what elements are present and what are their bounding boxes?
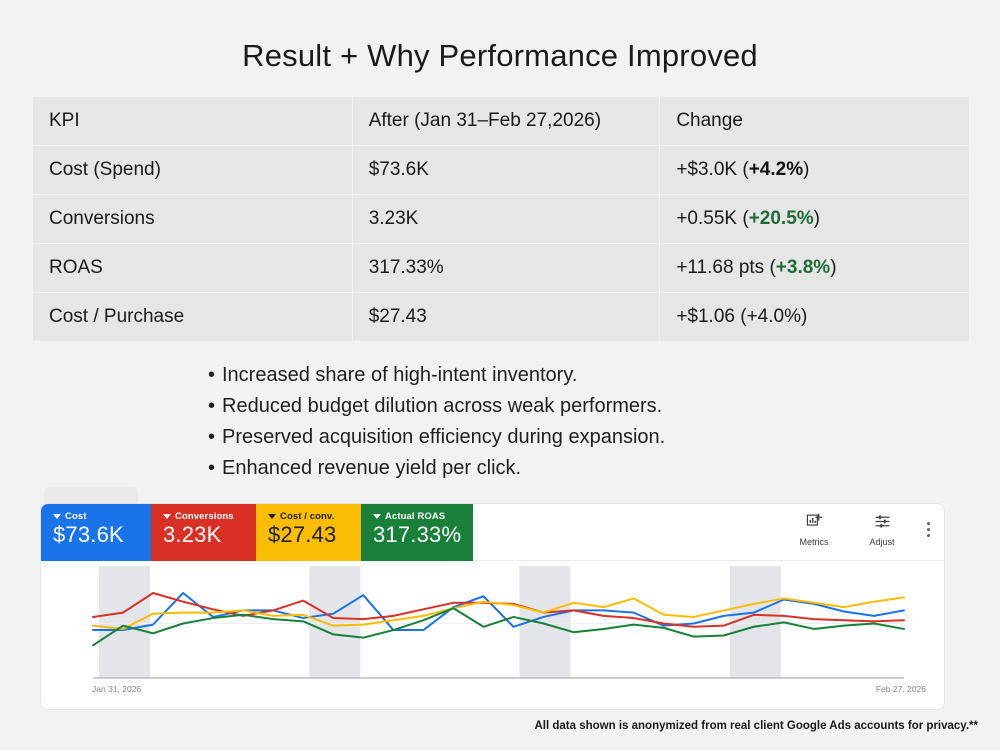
- kebab-dot-icon: [927, 534, 930, 537]
- sliders-icon: [874, 513, 891, 530]
- table-row: Conversions 3.23K +0.55K (+20.5%): [33, 195, 970, 244]
- performance-chart[interactable]: Jan 31, 2026 Feb 27, 2026: [41, 561, 944, 710]
- list-item-label: Enhanced revenue yield per click.: [222, 457, 521, 479]
- kebab-dot-icon: [927, 528, 930, 531]
- cell-after: $27.43: [352, 293, 660, 342]
- table-body: Cost (Spend) $73.6K +$3.0K (+4.2%) Conve…: [33, 146, 970, 342]
- list-item-label: Increased share of high-intent inventory…: [222, 364, 577, 386]
- table-row: Cost (Spend) $73.6K +$3.0K (+4.2%): [33, 146, 970, 195]
- metric-card-value: $27.43: [268, 522, 337, 547]
- chart-series-cost-conv-: [93, 597, 904, 629]
- metric-card-label: Cost: [65, 511, 87, 522]
- metric-card-label-wrap: Conversions: [163, 511, 256, 522]
- metric-card-label-wrap: Actual ROAS: [373, 511, 473, 522]
- chart-series-actual-roas: [93, 608, 904, 645]
- metric-card-cost[interactable]: Cost $73.6K: [41, 504, 151, 561]
- add-chart-icon: [806, 513, 823, 530]
- chart-canvas: [41, 561, 944, 710]
- list-item-label: Preserved acquisition efficiency during …: [222, 426, 665, 448]
- bullet-dot-icon: •: [208, 391, 222, 422]
- bullet-dot-icon: •: [208, 453, 222, 484]
- cell-change: +11.68 pts (+3.8%): [660, 244, 970, 293]
- more-options-button[interactable]: [927, 522, 930, 537]
- chevron-down-icon[interactable]: [373, 514, 381, 519]
- chevron-down-icon[interactable]: [163, 514, 171, 519]
- slide-root: Result + Why Performance Improved KPI Af…: [0, 0, 1000, 750]
- page-title: Result + Why Performance Improved: [0, 38, 1000, 74]
- panel-tab-stub: [44, 487, 138, 503]
- metric-card-value: $73.6K: [53, 522, 124, 547]
- list-item: •Enhanced revenue yield per click.: [208, 453, 665, 484]
- column-header-kpi: KPI: [33, 97, 353, 146]
- list-item: •Reduced budget dilution across weak per…: [208, 391, 665, 422]
- metric-card-label: Cost / conv.: [280, 511, 334, 522]
- cell-after: $73.6K: [352, 146, 660, 195]
- kebab-dot-icon: [927, 522, 930, 525]
- cell-kpi-name: Cost (Spend): [33, 146, 353, 195]
- adjust-button[interactable]: Adjust: [859, 513, 905, 547]
- metric-card-label-wrap: Cost / conv.: [268, 511, 361, 522]
- takeaway-list: •Increased share of high-intent inventor…: [208, 360, 665, 484]
- cell-kpi-name: Cost / Purchase: [33, 293, 353, 342]
- cell-after: 317.33%: [352, 244, 660, 293]
- change-suffix: ): [814, 208, 820, 229]
- bullet-dot-icon: •: [208, 422, 222, 453]
- metric-card-actual-roas[interactable]: Actual ROAS 317.33%: [361, 504, 473, 561]
- google-ads-panel: Cost $73.6K Conversions 3.23K Cost / con…: [40, 503, 945, 710]
- metric-card-cost-per-conv[interactable]: Cost / conv. $27.43: [256, 504, 361, 561]
- metrics-button-label: Metrics: [791, 537, 837, 547]
- table-row: ROAS 317.33% +11.68 pts (+3.8%): [33, 244, 970, 293]
- cell-change: +$1.06 (+4.0%): [660, 293, 970, 342]
- metric-card-label-wrap: Cost: [53, 511, 151, 522]
- panel-toolbar: Metrics Adjust: [791, 513, 930, 547]
- change-suffix: ): [830, 257, 836, 278]
- cell-after: 3.23K: [352, 195, 660, 244]
- table-row: Cost / Purchase $27.43 +$1.06 (+4.0%): [33, 293, 970, 342]
- list-item: •Preserved acquisition efficiency during…: [208, 422, 665, 453]
- list-item: •Increased share of high-intent inventor…: [208, 360, 665, 391]
- metric-card-strip: Cost $73.6K Conversions 3.23K Cost / con…: [41, 504, 944, 561]
- chevron-down-icon[interactable]: [53, 514, 61, 519]
- adjust-button-label: Adjust: [859, 537, 905, 547]
- chart-start-date: Jan 31, 2026: [92, 684, 141, 694]
- change-prefix: +$3.0K (: [676, 159, 748, 180]
- metric-card-value: 3.23K: [163, 522, 222, 547]
- chevron-down-icon[interactable]: [268, 514, 276, 519]
- change-bold: +20.5%: [749, 208, 814, 229]
- change-prefix: +11.68 pts (: [676, 257, 775, 278]
- column-header-change: Change: [660, 97, 970, 146]
- cell-change: +0.55K (+20.5%): [660, 195, 970, 244]
- metrics-button[interactable]: Metrics: [791, 513, 837, 547]
- bullet-dot-icon: •: [208, 360, 222, 391]
- metric-card-conversions[interactable]: Conversions 3.23K: [151, 504, 256, 561]
- table-header-row: KPI After (Jan 31–Feb 27,2026) Change: [33, 97, 970, 146]
- change-prefix: +$1.06 (+4.0%): [676, 306, 807, 327]
- kpi-comparison-table: KPI After (Jan 31–Feb 27,2026) Change Co…: [32, 96, 970, 342]
- change-bold: +4.2%: [749, 159, 803, 180]
- metric-card-label: Conversions: [175, 511, 234, 522]
- cell-kpi-name: ROAS: [33, 244, 353, 293]
- column-header-after: After (Jan 31–Feb 27,2026): [352, 97, 660, 146]
- cell-change: +$3.0K (+4.2%): [660, 146, 970, 195]
- change-bold: +3.8%: [776, 257, 830, 278]
- metric-card-value: 317.33%: [373, 522, 461, 547]
- change-prefix: +0.55K (: [676, 208, 748, 229]
- list-item-label: Reduced budget dilution across weak perf…: [222, 395, 662, 417]
- footnote: All data shown is anonymized from real c…: [535, 720, 979, 732]
- chart-end-date: Feb 27, 2026: [876, 684, 926, 694]
- change-suffix: ): [803, 159, 809, 180]
- cell-kpi-name: Conversions: [33, 195, 353, 244]
- metric-card-label: Actual ROAS: [385, 511, 445, 522]
